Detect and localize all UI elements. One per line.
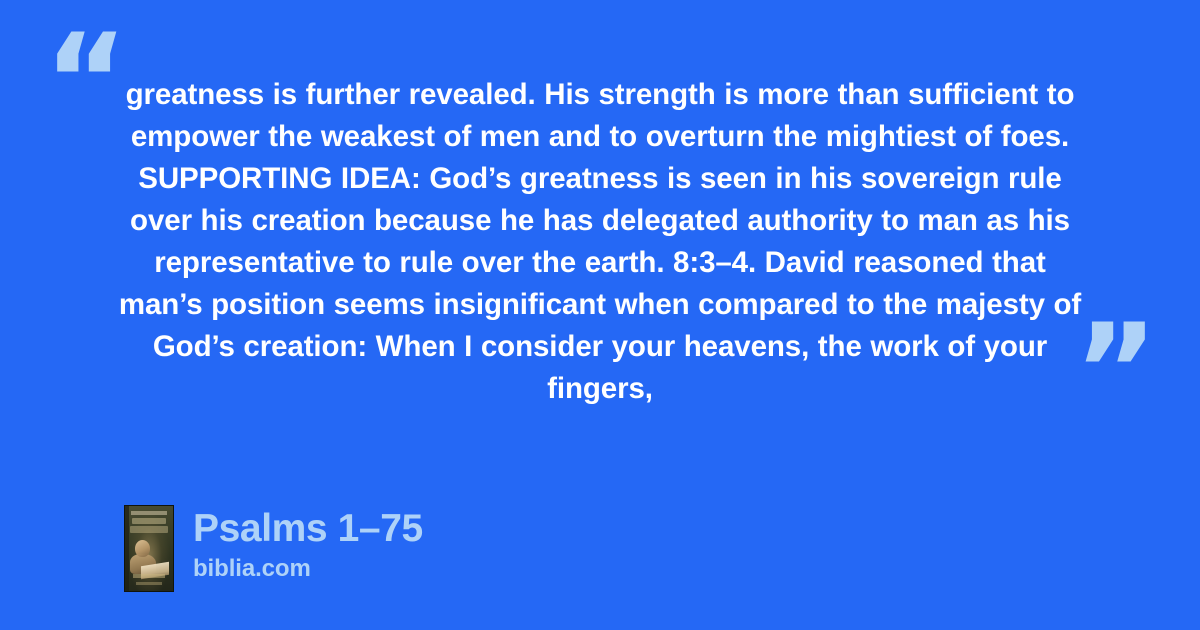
attribution-text: Psalms 1–75 biblia.com	[193, 505, 423, 583]
book-cover-title-line-1	[132, 518, 166, 524]
quote-text: greatness is further revealed. His stren…	[112, 74, 1088, 410]
book-cover-author-line	[133, 574, 165, 578]
source-site: biblia.com	[193, 555, 423, 583]
book-title: Psalms 1–75	[193, 507, 423, 551]
closing-quote-icon: ”	[1074, 308, 1158, 436]
book-cover-publisher-line	[131, 511, 167, 515]
book-cover-thumbnail	[124, 505, 174, 592]
attribution: Psalms 1–75 biblia.com	[124, 505, 423, 592]
book-cover-figure-head	[135, 540, 150, 557]
quote-block: greatness is further revealed. His stren…	[112, 74, 1088, 410]
book-cover-spine	[125, 506, 129, 591]
quote-card: “ greatness is further revealed. His str…	[0, 0, 1200, 630]
book-cover-editor-line	[136, 582, 162, 585]
book-cover-title-line-2	[130, 526, 168, 533]
